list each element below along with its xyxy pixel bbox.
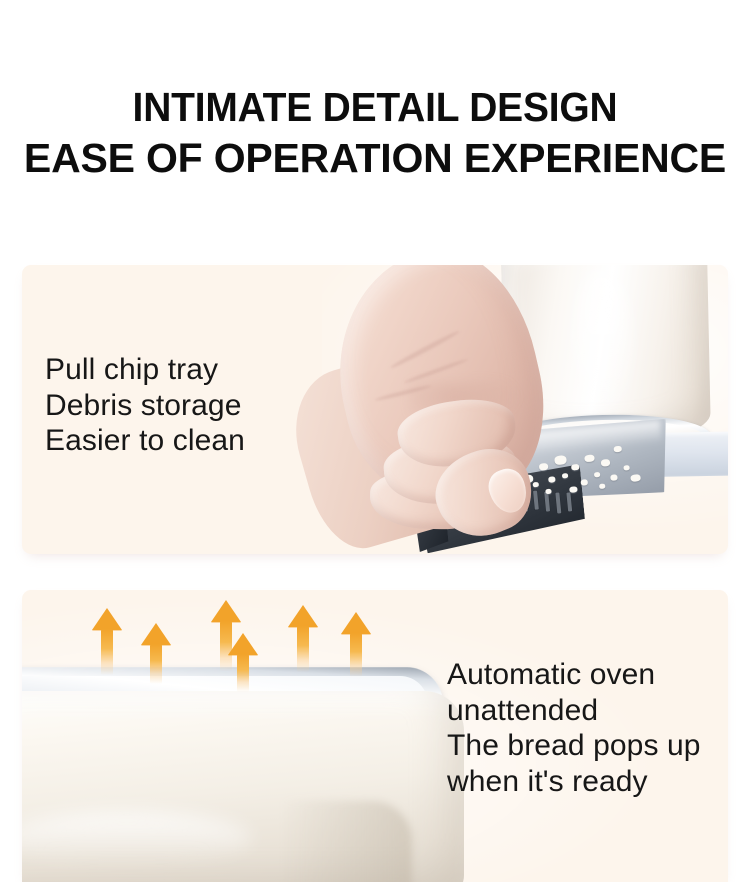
bread-crumb (584, 454, 595, 462)
product-feature-page: INTIMATE DETAIL DESIGN EASE OF OPERATION… (0, 0, 750, 882)
caption-line: Automatic oven (447, 657, 701, 693)
caption-line: Easier to clean (45, 423, 245, 459)
toaster-body-highlight (22, 811, 252, 865)
bread-crumb (613, 446, 622, 453)
bread-crumb (581, 479, 589, 486)
heading-line-2: EASE OF OPERATION EXPERIENCE (0, 133, 750, 184)
hand (340, 265, 570, 551)
bread-crumb (599, 483, 605, 489)
crumb-tray-caption: Pull chip tray Debris storage Easier to … (45, 352, 245, 459)
toaster-body-highlight (575, 273, 630, 414)
bread-crumb (610, 474, 618, 481)
caption-line: Debris storage (45, 388, 245, 424)
caption-line: when it's ready (447, 764, 701, 800)
caption-line: Pull chip tray (45, 352, 245, 388)
bread-crumb (601, 459, 611, 467)
bread-crumb (630, 474, 641, 482)
toaster-body (22, 691, 464, 882)
heading-line-1: INTIMATE DETAIL DESIGN (19, 82, 732, 133)
bread-crumb (623, 465, 629, 471)
bread-crumb (594, 472, 600, 478)
caption-line: The bread pops up (447, 728, 701, 764)
bread-crumb (569, 486, 578, 493)
toaster-body-shading (282, 801, 412, 882)
bread-crumb (571, 464, 580, 471)
page-title: INTIMATE DETAIL DESIGN EASE OF OPERATION… (0, 82, 750, 184)
auto-pop-caption: Automatic oven unattended The bread pops… (447, 657, 701, 799)
caption-line: unattended (447, 693, 701, 729)
